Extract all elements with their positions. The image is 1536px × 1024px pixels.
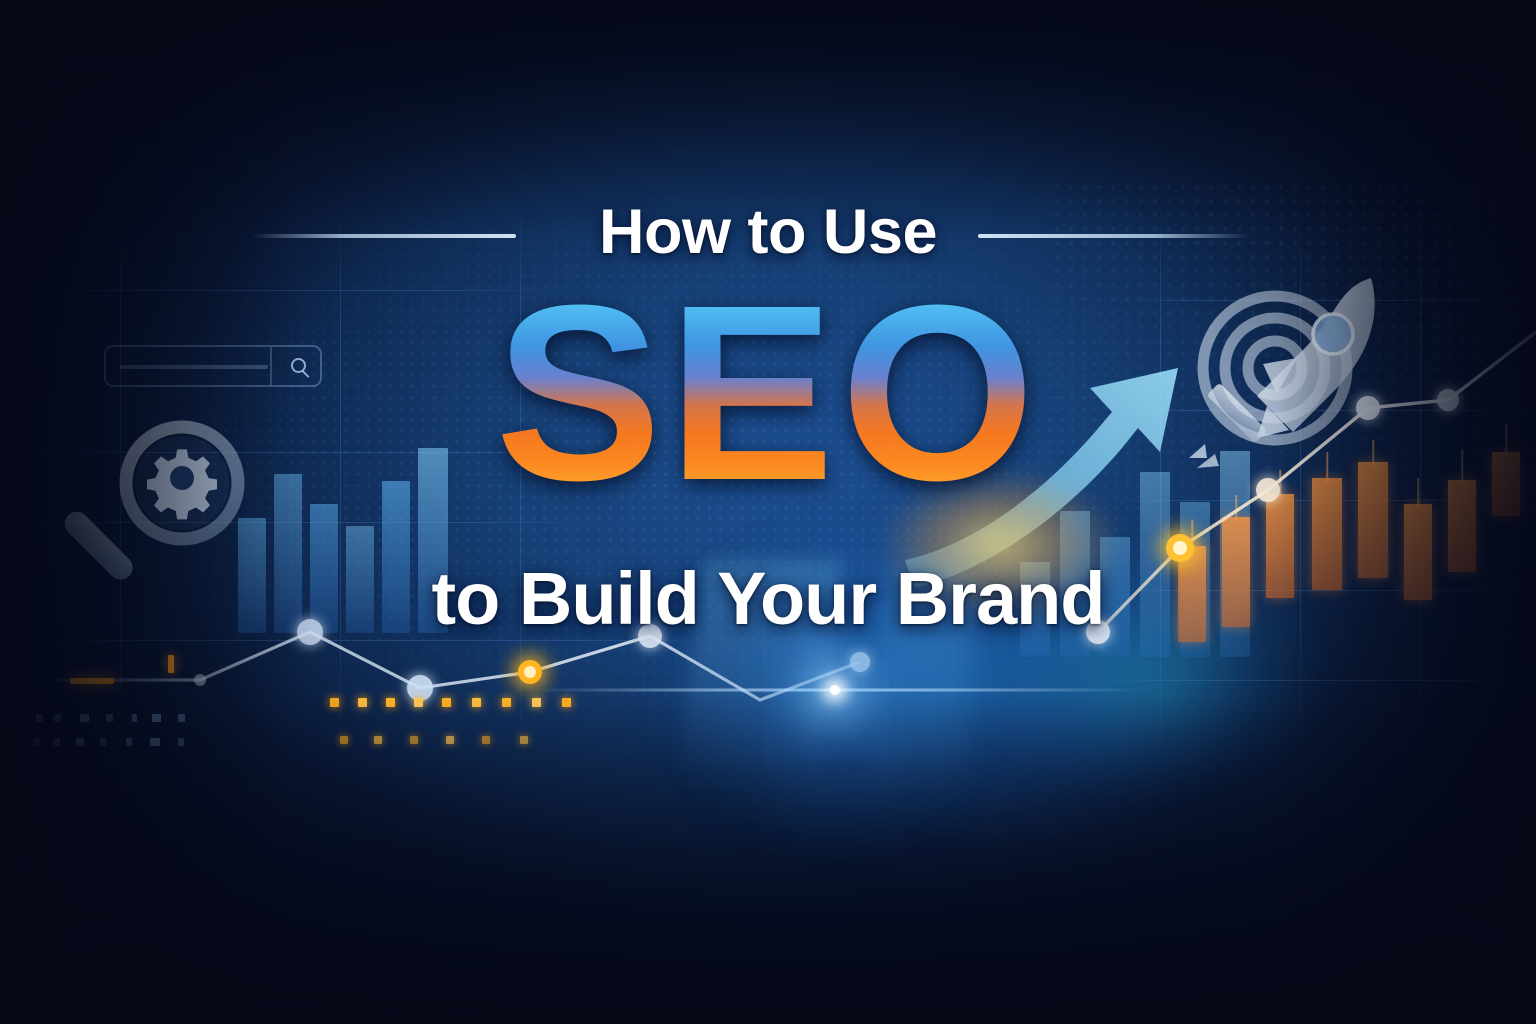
lens-flare-core — [830, 685, 840, 695]
title-subtitle: to Build Your Brand — [0, 556, 1536, 641]
banner-canvas: How to Use SEO to Build Your Brand — [0, 0, 1536, 1024]
page-title: SEO — [0, 268, 1536, 518]
